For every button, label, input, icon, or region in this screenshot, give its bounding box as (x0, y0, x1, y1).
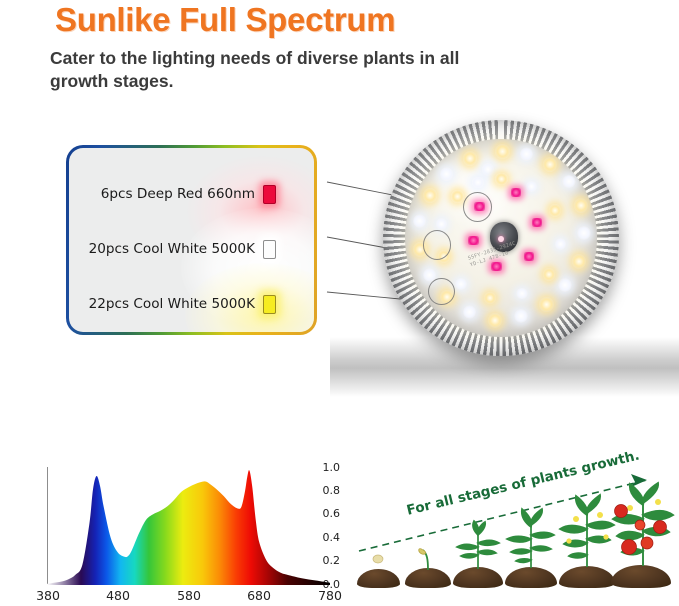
stage-flowering (560, 495, 614, 567)
x-tick-label: 480 (106, 588, 130, 603)
legend-label-deep-red: 6pcs Deep Red 660nm (69, 186, 263, 202)
x-tick-label: 580 (177, 588, 201, 603)
callout-circle-deep-red (463, 192, 492, 222)
spectrum-chart: 1.0 0.8 0.6 0.4 0.2 0.0 380 480 580 680 … (0, 455, 340, 606)
stage-seedling (457, 521, 499, 569)
spd-curve-area (47, 467, 330, 585)
legend-label-cool-white-22: 22pcs Cool White 5000K (69, 296, 263, 312)
cool-white-led-swatch-icon (263, 240, 276, 259)
stage-fruiting (613, 483, 673, 566)
warm-yellow-led-swatch-icon (263, 295, 276, 314)
bulb-center-dot (498, 236, 504, 242)
x-tick-label: 780 (318, 588, 342, 603)
product-infographic: Sunlike Full Spectrum Cater to the light… (0, 0, 679, 606)
page-title: Sunlike Full Spectrum (55, 1, 395, 39)
bulb-diffuser-dome: SSFY-2835-2924C YD-LJ 478-10 (405, 139, 596, 337)
stage-sprout (419, 549, 428, 570)
legend-label-cool-white-20: 20pcs Cool White 5000K (69, 241, 263, 257)
led-grow-light-bulb: SSFY-2835-2924C YD-LJ 478-10 (383, 120, 619, 356)
stage-seed (373, 555, 383, 563)
page-subtitle: Cater to the lighting needs of diverse p… (50, 47, 480, 93)
x-tick-label: 680 (247, 588, 271, 603)
stage-vegetative (507, 509, 554, 568)
plant-growth-illustration: For all stages of plants growth. (347, 455, 679, 606)
hero-section: 6pcs Deep Red 660nm 20pcs Cool White 500… (0, 112, 679, 402)
plant-stages (347, 455, 679, 606)
deep-red-led-swatch-icon (263, 185, 276, 204)
x-tick-label: 380 (36, 588, 60, 603)
callout-circle-cool-white (423, 230, 452, 260)
